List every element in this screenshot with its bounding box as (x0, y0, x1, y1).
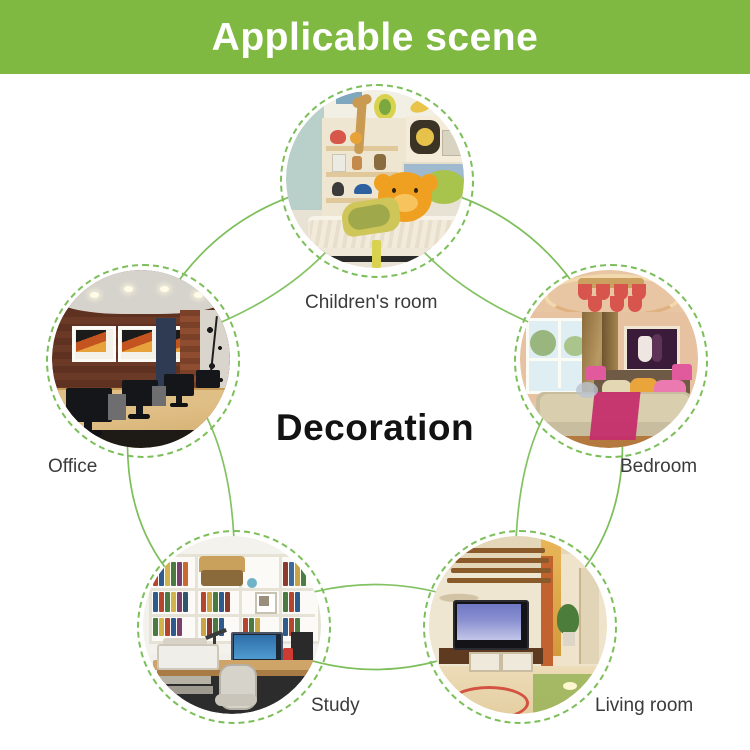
scene-diagram: Children's room Bedroom Living room Stud… (0, 74, 750, 750)
product-infographic: Applicable scene (0, 0, 750, 750)
header-banner: Applicable scene (0, 0, 750, 74)
scene-node-study[interactable] (143, 536, 321, 714)
label-children-room: Children's room (305, 292, 437, 314)
diagram-center-title: Decoration (0, 407, 750, 449)
scene-node-living-room[interactable] (429, 536, 607, 714)
label-living-room: Living room (595, 695, 693, 717)
children-room-photo (286, 90, 464, 268)
label-office: Office (48, 456, 97, 478)
scene-node-children-room[interactable] (286, 90, 464, 268)
label-bedroom: Bedroom (620, 456, 697, 478)
page-title: Applicable scene (212, 18, 539, 57)
label-study: Study (311, 695, 360, 717)
living-room-photo (429, 536, 607, 714)
study-photo (143, 536, 321, 714)
